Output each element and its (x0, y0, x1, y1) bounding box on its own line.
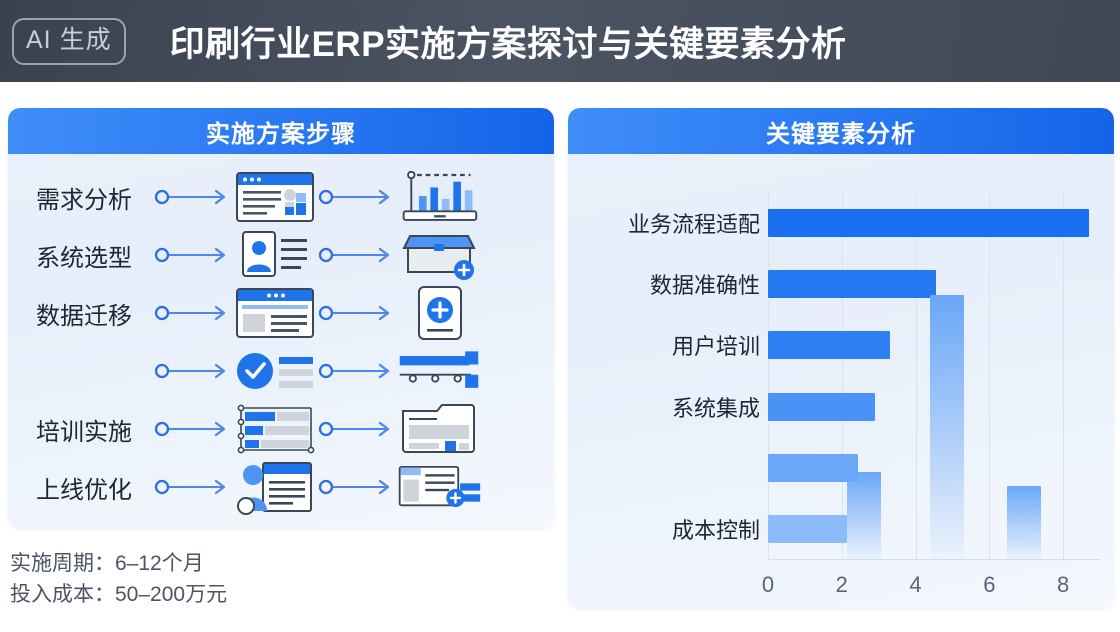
arrow-connector-icon (154, 417, 232, 441)
box-add-icon (396, 228, 482, 282)
arrow-connector-icon (154, 243, 232, 267)
page-title: 印刷行业ERP实施方案探讨与关键要素分析 (170, 16, 847, 67)
step-row[interactable]: 培训实施 (20, 400, 542, 458)
right-panel-header: 关键要素分析 (568, 108, 1114, 154)
report-add-icon (396, 459, 482, 515)
step-row[interactable] (20, 342, 542, 400)
chart-category-label: 系统集成 (672, 391, 760, 423)
chart-category-label: 成本控制 (672, 513, 760, 545)
chart-bar[interactable] (768, 270, 936, 298)
step-row[interactable]: 数据迁移 (20, 284, 542, 342)
key-factors-bar-chart: 业务流程适配数据准确性用户培训系统集成成本控制 02468 (568, 154, 1114, 608)
arrow-connector-icon (154, 301, 232, 325)
chart-x-tick-label: 2 (836, 572, 848, 598)
chart-overlay-column[interactable] (847, 472, 881, 560)
chart-x-tick-label: 4 (909, 572, 921, 598)
chart-category-label: 业务流程适配 (628, 207, 760, 239)
arrow-connector-icon (318, 417, 396, 441)
footer-line-cost: 投入成本：50–200万元 (10, 579, 227, 610)
chart-overlay-column[interactable] (1007, 486, 1041, 560)
step-label: 数据迁移 (20, 296, 154, 331)
chart-bar[interactable] (768, 331, 890, 359)
step-row[interactable]: 需求分析 (20, 168, 542, 226)
step-label: 系统选型 (20, 238, 154, 273)
chart-bar[interactable] (768, 454, 858, 482)
chart-x-tick-label: 8 (1057, 572, 1069, 598)
gantt-chart-icon (232, 402, 318, 456)
chart-x-tick-label: 0 (762, 572, 774, 598)
left-panel-footer: 实施周期：6–12个月 投入成本：50–200万元 (10, 548, 227, 610)
step-row[interactable]: 系统选型 (20, 226, 542, 284)
chart-overlay-column[interactable] (930, 295, 964, 560)
chart-x-tick-label: 6 (983, 572, 995, 598)
chart-gridline (1063, 192, 1064, 560)
arrow-connector-icon (318, 301, 396, 325)
arrow-connector-icon (154, 475, 232, 499)
chart-bar[interactable] (768, 393, 875, 421)
step-row[interactable]: 上线优化 (20, 458, 542, 516)
check-list-icon (232, 345, 318, 397)
arrow-connector-icon (318, 185, 396, 209)
folder-dashboard-icon (396, 401, 482, 457)
chart-category-label: 数据准确性 (650, 268, 760, 300)
chart-gridline (989, 192, 990, 560)
chart-gridline (768, 192, 769, 560)
arrow-connector-icon (318, 243, 396, 267)
chart-gridline (842, 192, 843, 560)
chart-bar[interactable] (768, 209, 1089, 237)
id-card-list-icon (232, 228, 318, 282)
app-header: AI 生成 印刷行业ERP实施方案探讨与关键要素分析 (0, 0, 1120, 82)
chart-category-labels: 业务流程适配数据准确性用户培训系统集成成本控制 (568, 154, 768, 608)
browser-chart-icon (232, 169, 318, 225)
document-plus-icon (396, 284, 482, 342)
key-factors-panel: 关键要素分析 业务流程适配数据准确性用户培训系统集成成本控制 02468 (568, 108, 1114, 608)
window-content-icon (232, 285, 318, 341)
chart-plot-area: 02468 (768, 154, 1100, 608)
step-label: 培训实施 (20, 412, 154, 447)
timeline-icon (396, 345, 482, 397)
arrow-connector-icon (154, 359, 232, 383)
bar-chart-laptop-icon (396, 168, 482, 226)
steps-list: 需求分析 (8, 154, 554, 516)
left-panel-title: 实施方案步骤 (206, 114, 356, 149)
chart-category-label: 用户培训 (672, 329, 760, 361)
step-label: 需求分析 (20, 180, 154, 215)
content-area: 实施方案步骤 需求分析 (0, 82, 1120, 632)
chart-bar[interactable] (768, 515, 847, 543)
person-document-icon (232, 459, 318, 515)
footer-line-duration: 实施周期：6–12个月 (10, 548, 227, 579)
arrow-connector-icon (318, 359, 396, 383)
implementation-steps-panel: 实施方案步骤 需求分析 (8, 108, 554, 528)
ai-generated-badge: AI 生成 (12, 18, 126, 65)
chart-gridline (916, 192, 917, 560)
arrow-connector-icon (318, 475, 396, 499)
arrow-connector-icon (154, 185, 232, 209)
left-panel-header: 实施方案步骤 (8, 108, 554, 154)
right-panel-title: 关键要素分析 (766, 114, 916, 149)
step-label: 上线优化 (20, 470, 154, 505)
